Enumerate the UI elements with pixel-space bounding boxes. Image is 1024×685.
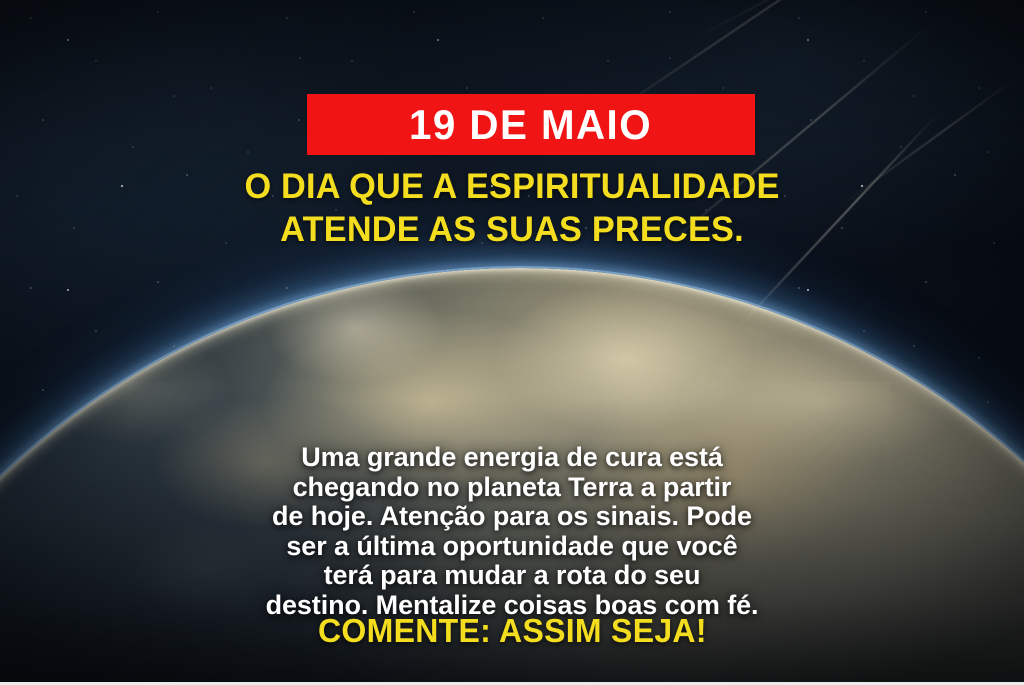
- cta-text: COMENTE: ASSIM SEJA!: [318, 613, 707, 649]
- poster-canvas: 19 DE MAIO O DIA QUE A ESPIRITUALIDADE A…: [0, 0, 1024, 685]
- body-paragraph: Uma grande energia de cura está chegando…: [0, 443, 1024, 620]
- headline-line-2: ATENDE AS SUAS PRECES.: [49, 209, 974, 252]
- body-line-5: terá para mudar a rota do seu: [56, 561, 968, 591]
- body-line-1: Uma grande energia de cura está: [56, 443, 968, 473]
- date-banner: 19 DE MAIO: [307, 94, 755, 155]
- body-line-4: ser a última oportunidade que você: [56, 532, 968, 562]
- date-banner-text: 19 DE MAIO: [410, 104, 653, 146]
- call-to-action: COMENTE: ASSIM SEJA!: [0, 613, 1024, 649]
- body-line-3: de hoje. Atenção para os sinais. Pode: [56, 502, 968, 532]
- poster-content: 19 DE MAIO O DIA QUE A ESPIRITUALIDADE A…: [0, 0, 1024, 685]
- headline: O DIA QUE A ESPIRITUALIDADE ATENDE AS SU…: [0, 166, 1024, 251]
- headline-line-1: O DIA QUE A ESPIRITUALIDADE: [49, 166, 974, 209]
- body-line-2: chegando no planeta Terra a partir: [56, 473, 968, 503]
- date-banner-background: 19 DE MAIO: [307, 94, 755, 155]
